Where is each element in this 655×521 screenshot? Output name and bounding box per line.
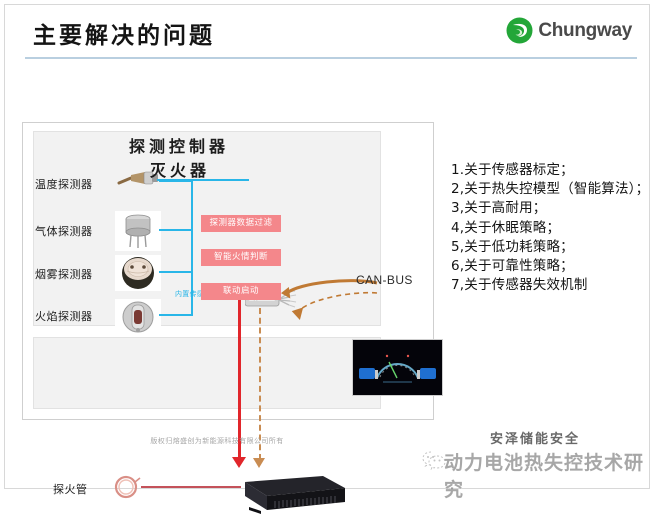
slide-header: 主要解决的问题 Chungway [5, 5, 650, 60]
key-problem-item-7: 7,关于传感器失效机制 [451, 276, 651, 295]
fire-detection-tube-coil-icon [111, 473, 141, 501]
header-divider [25, 57, 637, 59]
brand-name: Chungway [538, 20, 632, 42]
key-problem-item-5: 5,关于低功耗策略； [451, 238, 651, 257]
process-box-fire-judgment: 智能火情判断 [201, 249, 281, 266]
detector-label-flame: 火焰探测器 [35, 308, 121, 324]
bus-line-flame [159, 314, 193, 316]
system-diagram: 探测控制器 温度探测器 气体探测器 烟雾探测器 火焰探测器 [22, 122, 434, 420]
brand-logo: Chungway [506, 17, 632, 44]
canbus-label: CAN-BUS [356, 273, 413, 287]
page-title: 主要解决的问题 [33, 16, 215, 50]
watermark-tagline: 安泽储能安全 [490, 428, 580, 447]
bus-line-smoke [159, 271, 193, 273]
detector-label-temperature: 温度探测器 [35, 176, 121, 192]
car-instrument-cluster-image [352, 339, 443, 396]
action-arrow-shaft-up [238, 293, 241, 411]
key-problem-item-3: 3,关于高耐用； [451, 199, 651, 218]
gas-sensor-can-icon [115, 211, 159, 245]
slide-canvas: 主要解决的问题 Chungway 探测控制器 温度探测器 气体探测器 烟雾探测器… [0, 0, 655, 494]
fire-tube-connection-line [141, 486, 241, 488]
action-arrow-head-down [232, 457, 246, 468]
bus-line-gas [159, 229, 193, 231]
action-arrow-shaft-down [238, 411, 241, 459]
detector-label-gas: 气体探测器 [35, 223, 121, 239]
key-problem-item-2: 2,关于热失控模型（智能算法）； [451, 180, 651, 199]
copyright-notice: 版权归熔盛创为新能源科技有限公司所有 [0, 436, 434, 446]
process-box-data-filter: 探测器数据过滤 [201, 215, 281, 232]
key-problem-item-4: 4,关于休眠策略； [451, 219, 651, 238]
key-problem-item-6: 6,关于可靠性策略； [451, 257, 651, 276]
detector-label-smoke: 烟雾探测器 [35, 266, 121, 282]
process-box-linkage-start: 联动启动 [201, 283, 281, 300]
controller-panel-title: 探测控制器 [129, 133, 229, 157]
wechat-official-account-icon [422, 450, 446, 470]
smoke-detector-icon [115, 255, 159, 289]
chungway-leaf-logo-icon [506, 17, 533, 44]
feedback-arrow-head [253, 458, 265, 468]
extinguisher-title: 灭火器 [150, 157, 210, 181]
fire-tube-label: 探火管 [53, 481, 88, 497]
watermark: 安泽储能安全 动力电池热失控技术研究 [420, 426, 655, 488]
flame-detector-icon [115, 299, 159, 333]
key-problem-item-1: 1.关于传感器标定； [451, 161, 651, 180]
key-problems-list: 1.关于传感器标定； 2,关于热失控模型（智能算法）； 3,关于高耐用； 4,关… [451, 161, 651, 295]
extinguisher-unit-icon [231, 468, 349, 516]
